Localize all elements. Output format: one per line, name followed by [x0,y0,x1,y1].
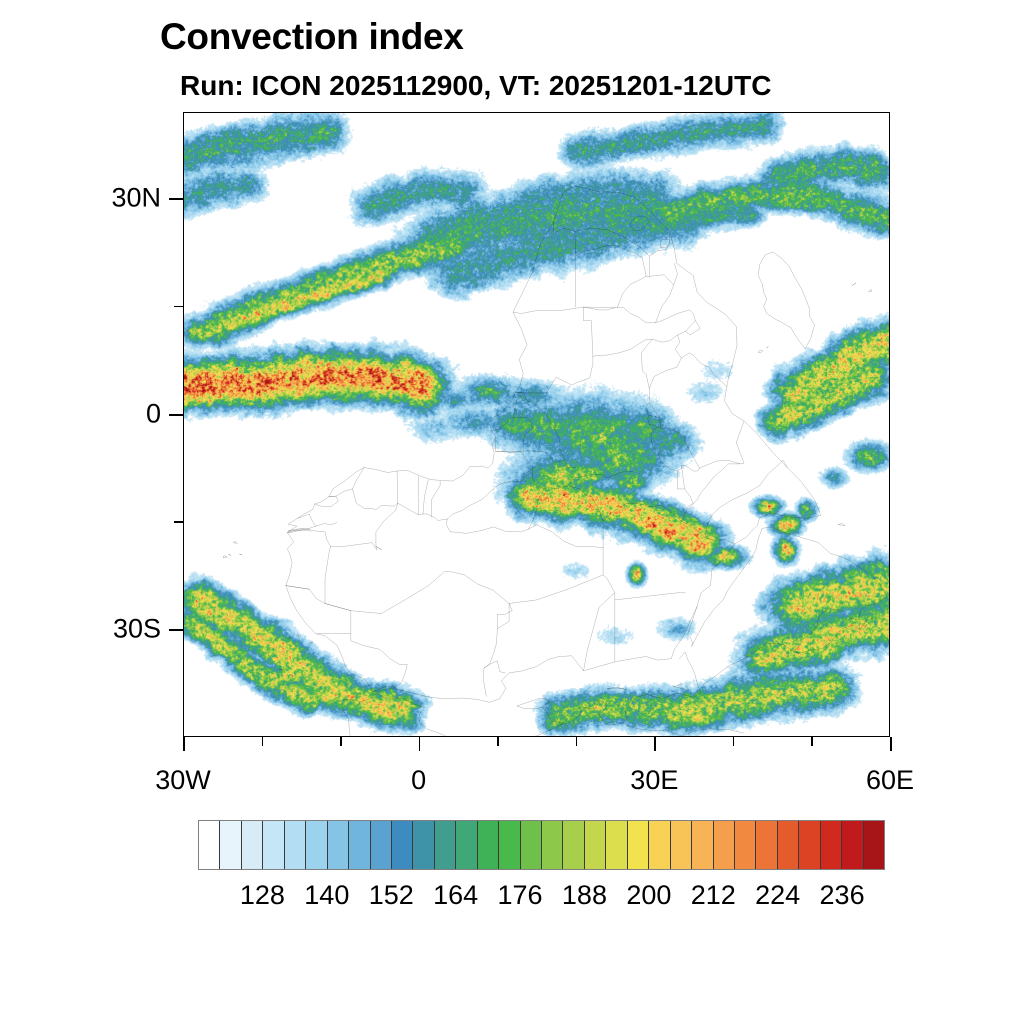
y-tick [174,521,183,523]
y-tick [169,198,183,200]
colorbar-cell [692,821,713,869]
x-tick-label: 30E [630,765,678,796]
colorbar-cell [799,821,820,869]
y-tick-label: 30S [113,614,161,645]
x-tick [262,737,264,746]
colorbar-cell [220,821,241,869]
colorbar-cell [499,821,520,869]
colorbar-tick-label: 128 [240,880,285,911]
country-borders-overlay [184,113,889,736]
y-tick-label: 30N [111,183,161,214]
colorbar-cell [413,821,434,869]
x-tick [497,737,499,746]
x-tick [733,737,735,746]
page-title: Convection index [160,16,980,58]
x-tick-label: 60E [866,765,914,796]
colorbar-cell [671,821,692,869]
colorbar-cell [563,821,584,869]
colorbar-cell [456,821,477,869]
colorbar-cell [349,821,370,869]
x-tick [890,737,892,751]
colorbar-cell [371,821,392,869]
colorbar-cell [263,821,284,869]
colorbar-tick-label: 236 [820,880,865,911]
colorbar-tick-label: 140 [304,880,349,911]
x-tick-label: 30W [155,765,211,796]
colorbar-cell [542,821,563,869]
colorbar-cell [714,821,735,869]
colorbar-tick-labels: 128140152164176188200212224236 [198,880,885,920]
colorbar-cell [628,821,649,869]
map-plot-area [183,112,890,737]
x-tick [183,737,185,751]
x-tick [811,737,813,746]
colorbar-cell [606,821,627,869]
y-tick-label: 0 [146,398,161,429]
colorbar-tick-label: 212 [691,880,736,911]
colorbar-cell [328,821,349,869]
colorbar-cell [306,821,327,869]
y-tick [169,629,183,631]
y-tick [169,414,183,416]
colorbar-cell [649,821,670,869]
x-tick [419,737,421,751]
x-tick [576,737,578,746]
colorbar-cell [756,821,777,869]
colorbar-cell [435,821,456,869]
colorbar-cell [864,821,884,869]
colorbar-cell [521,821,542,869]
colorbar-tick-label: 176 [498,880,543,911]
colorbar-tick-label: 224 [755,880,800,911]
colorbar-tick-label: 152 [369,880,414,911]
colorbar-cell [285,821,306,869]
x-tick [654,737,656,751]
colorbar-cell [842,821,863,869]
x-tick-label: 0 [411,765,426,796]
y-tick [174,306,183,308]
page-subtitle: Run: ICON 2025112900, VT: 20251201-12UTC [180,70,1010,102]
colorbar-tick-label: 188 [562,880,607,911]
colorbar-cell [242,821,263,869]
colorbar-tick-label: 200 [626,880,671,911]
colorbar-cell [778,821,799,869]
colorbar-cell [821,821,842,869]
colorbar-tick-label: 164 [433,880,478,911]
colorbar-cell [585,821,606,869]
colorbar-cell [199,821,220,869]
colorbar-cell [735,821,756,869]
colorbar-cell [392,821,413,869]
x-tick [340,737,342,746]
colorbar-cell [478,821,499,869]
colorbar [198,820,885,870]
